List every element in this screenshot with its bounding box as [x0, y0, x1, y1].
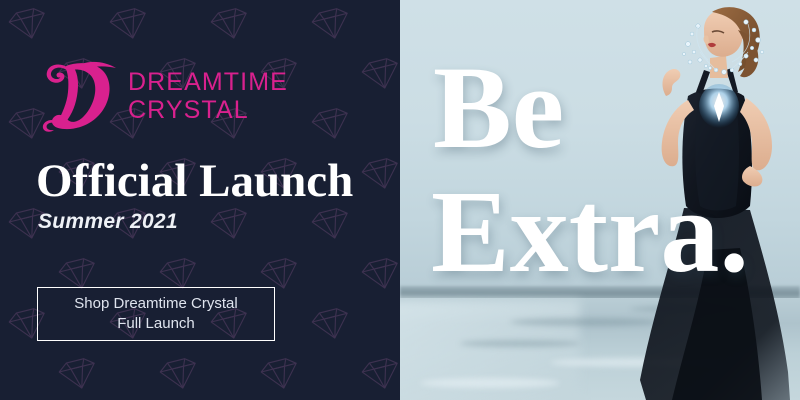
- promo-banner: DREAMTIME CRYSTAL Official Launch Summer…: [0, 0, 800, 400]
- hero-headline-line-1: Be: [433, 58, 564, 158]
- headline: Official Launch: [36, 158, 353, 205]
- shop-full-launch-button[interactable]: Shop Dreamtime Crystal Full Launch: [37, 287, 275, 341]
- brand-logo[interactable]: DREAMTIME CRYSTAL: [38, 48, 288, 140]
- water-streak: [460, 340, 580, 347]
- brand-wordmark: DREAMTIME CRYSTAL: [128, 68, 288, 124]
- script-d-monogram-icon: [38, 48, 124, 140]
- cta-label-line-1: Shop Dreamtime Crystal: [74, 294, 237, 314]
- wordmark-line-1: DREAMTIME: [128, 68, 288, 96]
- hero-image-panel: Be Extra.: [400, 0, 800, 400]
- subheadline: Summer 2021: [38, 210, 178, 234]
- water-streak: [420, 378, 560, 388]
- hero-headline-line-2: Extra.: [431, 182, 749, 282]
- cta-label-line-2: Full Launch: [117, 314, 195, 334]
- wordmark-line-2: CRYSTAL: [128, 96, 288, 124]
- left-content-panel: DREAMTIME CRYSTAL Official Launch Summer…: [0, 0, 400, 400]
